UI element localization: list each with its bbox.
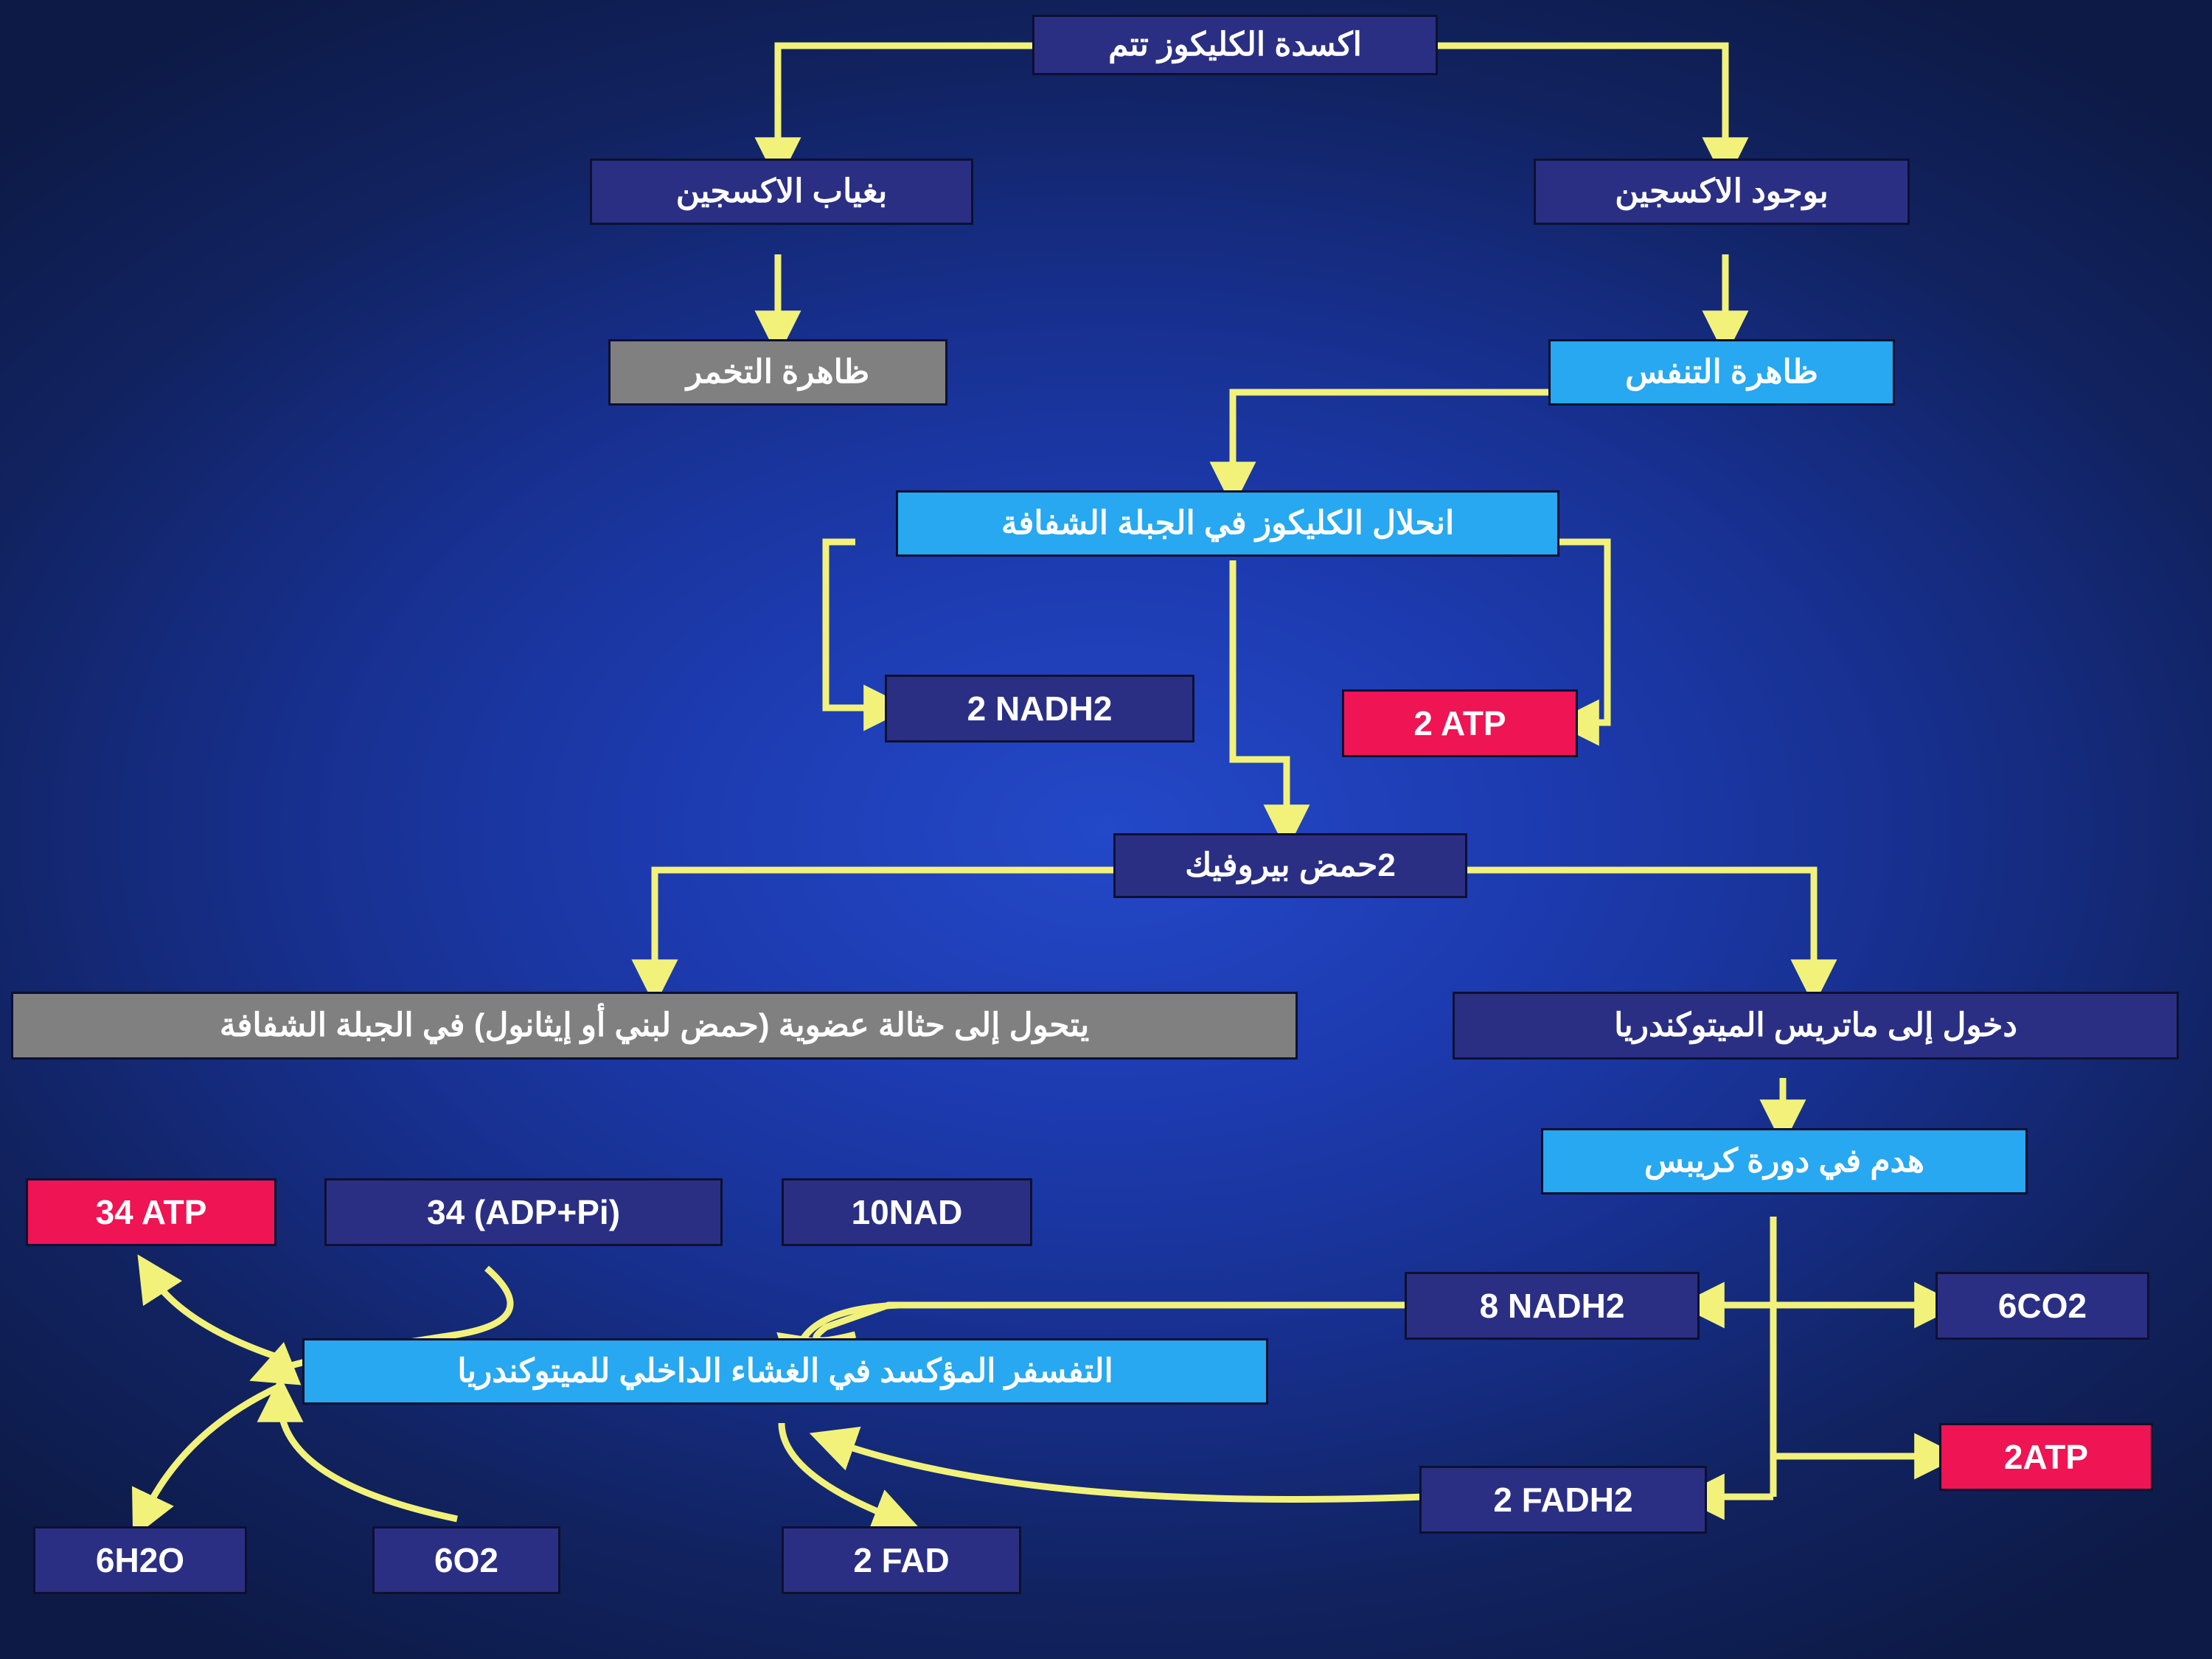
node-fadh2-2[interactable]: 2 FADH2	[1419, 1466, 1707, 1534]
node-aerobic[interactable]: بوجود الاكسجين	[1534, 159, 1910, 225]
node-h2o-6[interactable]: 6H2O	[33, 1526, 247, 1594]
node-glycolysis[interactable]: انحلال الكليكوز في الجبلة الشفافة	[896, 490, 1559, 557]
node-atp-2[interactable]: 2 ATP	[1342, 689, 1578, 757]
node-nadh2-2[interactable]: 2 NADH2	[885, 675, 1194, 742]
node-krebs[interactable]: هدم في دورة كريبس	[1541, 1128, 2028, 1194]
diagram-canvas: اكسدة الكليكوز تتم بغياب الاكسجين بوجود …	[0, 0, 2212, 1659]
node-pyruvate[interactable]: 2حمض بيروفيك	[1113, 833, 1467, 898]
node-nadh2-8[interactable]: 8 NADH2	[1405, 1272, 1700, 1340]
node-oxphos[interactable]: التفسفر المؤكسد في الغشاء الداخلي للميتو…	[302, 1338, 1268, 1405]
node-anaerobic[interactable]: بغياب الاكسجين	[590, 159, 973, 225]
connector-layer	[0, 0, 2212, 1659]
node-co2-6[interactable]: 6CO2	[1935, 1272, 2149, 1340]
node-fermentation[interactable]: ظاهرة التخمر	[608, 339, 947, 406]
node-adp-pi-34[interactable]: 34 (ADP+Pi)	[324, 1178, 723, 1246]
node-respiration[interactable]: ظاهرة التنفس	[1548, 339, 1895, 406]
node-o2-6[interactable]: 6O2	[372, 1526, 560, 1594]
node-organic-waste[interactable]: يتحول إلى حثالة عضوية (حمض لبني أو إيثان…	[11, 992, 1298, 1060]
node-matrix-entry[interactable]: دخول إلى ماتريس الميتوكندريا	[1453, 992, 2179, 1060]
node-oxidation[interactable]: اكسدة الكليكوز تتم	[1032, 15, 1438, 75]
node-atp-34[interactable]: 34 ATP	[26, 1178, 276, 1246]
node-fad-2[interactable]: 2 FAD	[782, 1526, 1021, 1594]
node-atp-2b[interactable]: 2ATP	[1939, 1423, 2153, 1491]
node-nad-10[interactable]: 10NAD	[782, 1178, 1032, 1246]
